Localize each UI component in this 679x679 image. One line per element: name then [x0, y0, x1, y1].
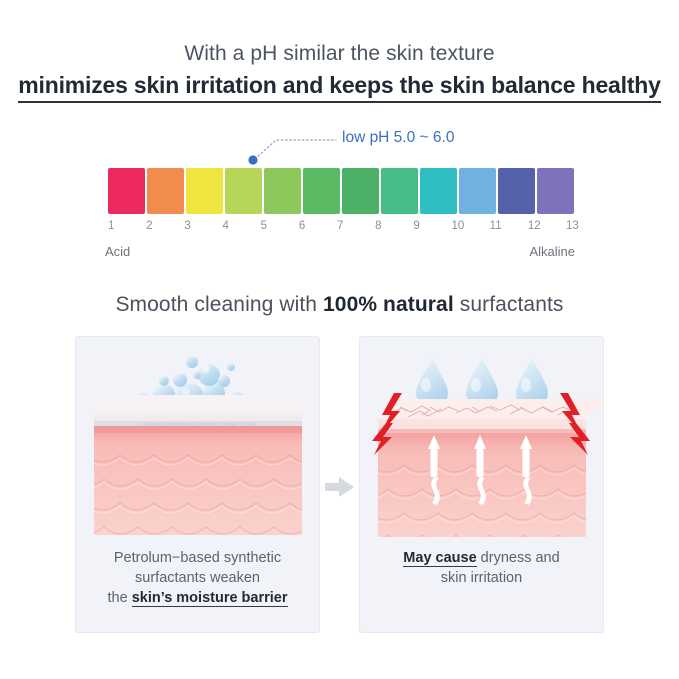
- ph-tick-4: 4: [223, 220, 229, 232]
- subheading: Smooth cleaning with 100% natural surfac…: [0, 293, 679, 317]
- ph-tick-3: 3: [184, 220, 190, 232]
- caption-line-2: surfactants weaken: [135, 570, 260, 586]
- ph-tick-7: 7: [337, 220, 343, 232]
- ph-tick-2: 2: [146, 220, 152, 232]
- headline-line-1: With a pH similar the skin texture: [0, 40, 679, 68]
- skin-block-with-water-loss-and-irritation-illustration: [360, 337, 604, 552]
- subheading-after: surfactants: [454, 293, 564, 316]
- infographic-page: With a pH similar the skin texture minim…: [0, 0, 679, 679]
- ph-acid-label: Acid: [105, 244, 130, 259]
- ph-swatch-12: [537, 168, 574, 214]
- comparison-panels: Petrolum−based synthetic surfactants wea…: [75, 336, 604, 633]
- ph-swatch-2: [147, 168, 184, 214]
- ph-swatch-5: [264, 168, 301, 214]
- caption-line-1-plain: dryness and: [477, 550, 560, 566]
- ph-tick-1: 1: [108, 220, 114, 232]
- ph-swatch-7: [342, 168, 379, 214]
- ph-swatch-1: [108, 168, 145, 214]
- ph-tick-11: 11: [490, 220, 502, 232]
- caption-line-1-bold: May cause: [403, 550, 476, 567]
- ph-tick-5: 5: [261, 220, 267, 232]
- ph-tick-8: 8: [375, 220, 381, 232]
- ph-alkaline-label: Alkaline: [529, 244, 575, 259]
- skin-block: [76, 409, 320, 535]
- ph-swatch-9: [420, 168, 457, 214]
- caption-line-2: skin irritation: [441, 570, 522, 586]
- ph-swatch-8: [381, 168, 418, 214]
- ph-swatch-11: [498, 168, 535, 214]
- panel-left: Petrolum−based synthetic surfactants wea…: [75, 336, 320, 633]
- ph-scale-ticks: 12345678910111213: [108, 220, 574, 236]
- ph-swatch-10: [459, 168, 496, 214]
- skin-block-with-foam-bubbles-illustration: [76, 337, 320, 552]
- panel-right-caption: May cause dryness and skin irritation: [368, 548, 595, 588]
- ph-marker-dot: [248, 155, 257, 164]
- ph-tick-12: 12: [528, 220, 541, 232]
- ph-tick-13: 13: [566, 220, 579, 232]
- ph-scale-swatches: [108, 168, 574, 214]
- caption-line-1: Petrolum−based synthetic: [114, 550, 281, 566]
- ph-swatch-3: [186, 168, 223, 214]
- subheading-bold: 100% natural: [323, 293, 454, 316]
- caption-line-3-bold: skin’s moisture barrier: [132, 590, 288, 607]
- caption-line-3-plain: the: [108, 590, 132, 606]
- ph-tick-10: 10: [452, 220, 465, 232]
- ph-tick-9: 9: [413, 220, 419, 232]
- subheading-before: Smooth cleaning with: [115, 293, 323, 316]
- ph-callout-label: low pH 5.0 ~ 6.0: [342, 129, 454, 147]
- panel-left-caption: Petrolum−based synthetic surfactants wea…: [84, 548, 311, 608]
- ph-tick-6: 6: [299, 220, 305, 232]
- headline-block: With a pH similar the skin texture minim…: [0, 40, 679, 103]
- right-arrow-icon: [325, 476, 355, 498]
- ph-swatch-6: [303, 168, 340, 214]
- ph-callout: low pH 5.0 ~ 6.0: [108, 126, 573, 168]
- callout-leader-line: [108, 126, 573, 168]
- ph-swatch-4: [225, 168, 262, 214]
- panel-right: May cause dryness and skin irritation: [359, 336, 604, 633]
- headline-line-2: minimizes skin irritation and keeps the …: [18, 70, 660, 103]
